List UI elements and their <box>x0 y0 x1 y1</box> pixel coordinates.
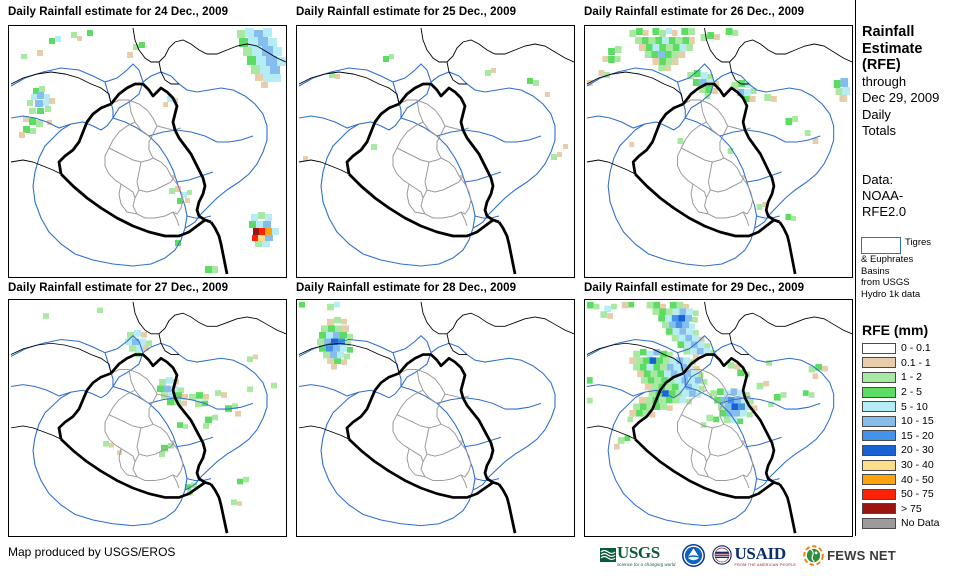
rfe-legend-title: RFE (mm) <box>862 322 967 338</box>
map-canvas[interactable] <box>296 299 575 537</box>
panel-title: Daily Rainfall estimate for 27 Dec., 200… <box>8 281 228 295</box>
legend-row: 20 - 30 <box>862 443 967 458</box>
totals-line1: Daily <box>862 107 967 123</box>
rainfall-cells <box>299 302 353 370</box>
legend-swatch <box>862 445 896 456</box>
legend-row: 10 - 15 <box>862 414 967 429</box>
sidebar-through-date: Dec 29, 2009 <box>862 90 967 106</box>
basin-label-1: Tigres <box>905 237 931 249</box>
rainfall-cells <box>19 28 286 273</box>
data-line2: NOAA- <box>862 188 967 204</box>
usgs-tagline: science for a changing world <box>617 562 675 567</box>
map-canvas[interactable] <box>8 299 287 537</box>
iraq-border <box>59 84 227 274</box>
legend-swatch <box>862 372 896 383</box>
usaid-logo: USAID FROM THE AMERICAN PEOPLE <box>712 544 796 567</box>
map-panel-26-dec[interactable]: Daily Rainfall estimate for 26 Dec., 200… <box>584 5 804 19</box>
country-boundaries <box>299 28 574 174</box>
legend-swatch <box>862 387 896 398</box>
river-basin-outlines <box>587 336 834 526</box>
usgs-mark-icon <box>600 547 616 563</box>
basin-label-4: from USGS <box>861 277 967 289</box>
legend-row: No Data <box>862 516 967 531</box>
legend-label: 0 - 0.1 <box>901 342 931 354</box>
map-panel-24-dec[interactable]: Daily Rainfall estimate for 24 Dec., 200… <box>8 5 228 19</box>
basin-swatch <box>861 237 901 254</box>
panel-title: Daily Rainfall estimate for 25 Dec., 200… <box>296 5 516 19</box>
rainfall-map-svg <box>585 26 852 277</box>
usaid-seal-icon <box>712 545 732 565</box>
rainfall-map-svg <box>9 300 286 536</box>
iraq-border <box>347 355 515 534</box>
rainfall-map-svg <box>297 300 574 536</box>
legend-swatch <box>862 430 896 441</box>
legend-row: 2 - 5 <box>862 385 967 400</box>
legend-row: 40 - 50 <box>862 472 967 487</box>
panel-title: Daily Rainfall estimate for 28 Dec., 200… <box>296 281 516 295</box>
rainfall-map-svg <box>9 26 286 277</box>
legend-label: 20 - 30 <box>901 444 934 456</box>
fews-globe-icon <box>803 545 824 566</box>
legend-swatch <box>862 416 896 427</box>
legend-label: 1 - 2 <box>901 371 922 383</box>
country-boundaries <box>11 302 286 439</box>
legend-row: 1 - 2 <box>862 370 967 385</box>
legend-label: > 75 <box>901 503 922 515</box>
totals-line2: Totals <box>862 123 967 139</box>
river-basin-outlines <box>299 336 555 526</box>
legend-swatch <box>862 474 896 485</box>
rainfall-map-svg <box>585 300 852 536</box>
legend-label: 2 - 5 <box>901 386 922 398</box>
legend-row: 0.1 - 1 <box>862 356 967 371</box>
legend-swatch <box>862 460 896 471</box>
legend-swatch <box>862 489 896 500</box>
panel-title: Daily Rainfall estimate for 24 Dec., 200… <box>8 5 228 19</box>
map-panel-27-dec[interactable]: Daily Rainfall estimate for 27 Dec., 200… <box>8 281 228 295</box>
legend-swatch <box>862 357 896 368</box>
map-canvas[interactable] <box>584 299 853 537</box>
basin-label-5: Hydro 1k data <box>861 289 967 301</box>
river-basin-outlines <box>11 336 267 526</box>
legend-swatch <box>862 401 896 412</box>
data-line3: RFE2.0 <box>862 204 967 220</box>
map-panel-29-dec[interactable]: Daily Rainfall estimate for 29 Dec., 200… <box>584 281 804 295</box>
legend-label: 15 - 20 <box>901 430 934 442</box>
legend-label: 10 - 15 <box>901 415 934 427</box>
legend-sidebar: Rainfall Estimate (RFE) through Dec 29, … <box>856 0 967 536</box>
legend-label: No Data <box>901 517 940 529</box>
usgs-wordmark: USGS <box>617 543 675 563</box>
iraq-border <box>347 84 515 274</box>
usaid-wordmark: USAID <box>734 544 796 564</box>
basin-legend: Tigres & Euphrates Basins from USGS Hydr… <box>861 234 967 300</box>
river-basin-outlines <box>299 64 555 266</box>
noaa-seal-icon <box>682 544 705 567</box>
legend-row: 0 - 0.1 <box>862 341 967 356</box>
legend-swatch <box>862 503 896 514</box>
sidebar-title-line2: Estimate <box>862 41 967 58</box>
legend-row: 15 - 20 <box>862 429 967 444</box>
map-canvas[interactable] <box>584 25 853 278</box>
fews-wordmark: FEWS NET <box>827 548 896 563</box>
sidebar-title-line1: Rainfall <box>862 24 967 41</box>
agency-logos: USGS science for a changing world USAID … <box>600 540 896 570</box>
legend-label: 30 - 40 <box>901 459 934 471</box>
legend-row: 30 - 40 <box>862 458 967 473</box>
map-credit: Map produced by USGS/EROS <box>8 545 175 559</box>
map-panel-28-dec[interactable]: Daily Rainfall estimate for 28 Dec., 200… <box>296 281 516 295</box>
usgs-logo: USGS science for a changing world <box>600 543 675 567</box>
river-basin-outlines <box>587 64 834 266</box>
sidebar-title-line3: (RFE) <box>862 57 967 74</box>
panel-title: Daily Rainfall estimate for 26 Dec., 200… <box>584 5 804 19</box>
iraq-border <box>59 355 227 534</box>
rainfall-cells <box>303 54 568 161</box>
fews-net-logo: FEWS NET <box>803 545 896 566</box>
legend-row: 50 - 75 <box>862 487 967 502</box>
legend-row: 5 - 10 <box>862 399 967 414</box>
country-boundaries <box>587 28 852 174</box>
legend-swatch <box>862 518 896 529</box>
rfe-legend: RFE (mm) 0 - 0.10.1 - 11 - 22 - 55 - 101… <box>862 322 967 531</box>
iraq-border <box>633 84 795 274</box>
usaid-tagline: FROM THE AMERICAN PEOPLE <box>734 563 796 567</box>
rainfall-map-svg <box>297 26 574 277</box>
legend-label: 5 - 10 <box>901 401 928 413</box>
map-panel-25-dec[interactable]: Daily Rainfall estimate for 25 Dec., 200… <box>296 5 516 19</box>
sidebar-through-label: through <box>862 74 967 90</box>
legend-row: > 75 <box>862 502 967 517</box>
basin-label-2: & Euphrates <box>861 254 967 266</box>
basin-label-3: Basins <box>861 266 967 278</box>
legend-label: 40 - 50 <box>901 474 934 486</box>
data-line1: Data: <box>862 172 967 188</box>
legend-label: 0.1 - 1 <box>901 357 931 369</box>
noaa-logo <box>682 544 705 567</box>
legend-label: 50 - 75 <box>901 488 934 500</box>
panel-title: Daily Rainfall estimate for 29 Dec., 200… <box>584 281 804 295</box>
map-canvas[interactable] <box>296 25 575 278</box>
legend-swatch <box>862 343 896 354</box>
map-canvas[interactable] <box>8 25 287 278</box>
